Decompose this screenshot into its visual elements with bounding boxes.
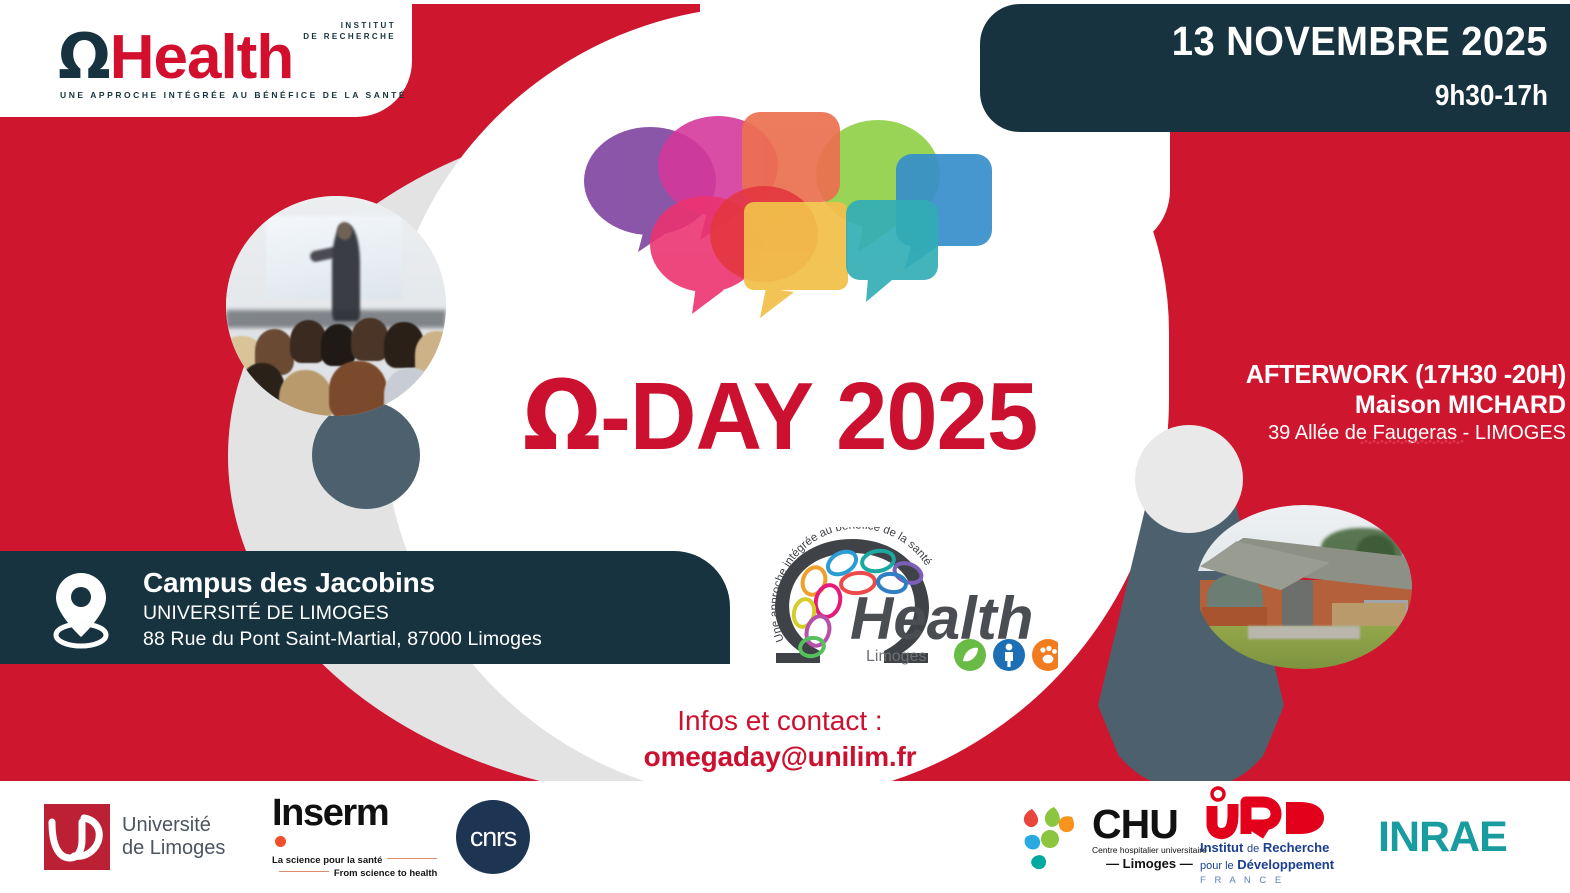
chu-city: — Limoges — xyxy=(1092,856,1207,871)
partner-logo-ird: Institut de Recherche pour le Développem… xyxy=(1200,781,1340,893)
partner-logo-chu-limoges: CHU Centre hospitalier universitaire — L… xyxy=(1012,781,1207,893)
chu-subtitle: Centre hospitalier universitaire xyxy=(1092,845,1207,856)
omega-health-wordmark: ΩHealth xyxy=(58,26,293,89)
chu-droplets-icon xyxy=(1012,799,1088,875)
title-text: -DAY 2025 xyxy=(600,363,1037,470)
contact-label: Infos et contact : xyxy=(560,703,1000,739)
afterwork-address: 39 Allée de Faugeras - LIMOGES xyxy=(1268,420,1566,446)
chu-wordmark: CHU xyxy=(1092,804,1207,845)
date-banner: 13 NOVEMBRE 2025 9h30-17h xyxy=(980,4,1570,132)
partner-logo-inserm: Inserm La science pour la santé From sci… xyxy=(272,781,437,893)
event-time: 9h30-17h xyxy=(1037,80,1548,113)
title-omega-glyph: Ω xyxy=(523,360,600,472)
health-logo-city: Limoges xyxy=(866,648,926,665)
omega-glyph: Ω xyxy=(58,20,110,93)
inserm-wordmark: Inserm xyxy=(272,794,388,832)
location-institution: UNIVERSITÉ DE LIMOGES xyxy=(143,601,542,626)
partner-logos-footer: Université de Limoges Inserm La science … xyxy=(0,781,1570,893)
partner-logo-cnrs: cnrs xyxy=(456,781,530,893)
partner-logo-inrae: INRAE xyxy=(1378,781,1507,893)
health-wordmark-text: Health xyxy=(110,23,293,92)
afterwork-venue: Maison MICHARD xyxy=(1150,390,1566,420)
contact-block: Infos et contact : omegaday@unilim.fr xyxy=(560,703,1000,775)
logo-institut-label: INSTITUT DE RECHERCHE xyxy=(303,20,396,42)
unilim-mark-icon xyxy=(44,804,110,870)
location-banner: Campus des Jacobins UNIVERSITÉ DE LIMOGE… xyxy=(0,551,730,664)
leaf-icon xyxy=(954,639,986,671)
person-icon xyxy=(993,639,1025,671)
map-pin-icon xyxy=(48,571,114,649)
spellcheck-underline xyxy=(1360,440,1464,444)
partner-logo-universite-de-limoges: Université de Limoges xyxy=(44,781,225,893)
paw-icon xyxy=(1032,639,1058,671)
conference-audience-photo xyxy=(226,196,446,416)
ird-line2: pour le Développement xyxy=(1200,857,1334,874)
inserm-tagline: La science pour la santé From science to… xyxy=(272,854,437,880)
page-title: Ω-DAY 2025 xyxy=(482,368,1077,465)
speech-bubbles-graphic xyxy=(578,104,998,329)
location-address: 88 Rue du Pont Saint-Martial, 87000 Limo… xyxy=(143,626,542,652)
inserm-dot-icon xyxy=(275,836,286,847)
afterwork-info-block: AFTERWORK (17H30 -20H) Maison MICHARD 39… xyxy=(1150,360,1570,446)
omega-health-logo-plate: INSTITUT DE RECHERCHE ΩHealth UNE APPROC… xyxy=(0,4,412,117)
cnrs-wordmark: cnrs xyxy=(470,822,516,853)
afterwork-heading: AFTERWORK (17H30 -20H) xyxy=(1150,360,1566,390)
slate-decor-circle-left xyxy=(312,401,420,509)
health-limoges-logo: Une approche intégrée au bénéfice de la … xyxy=(762,527,1058,679)
inrae-wordmark: INRAE xyxy=(1378,813,1507,862)
event-poster: INSTITUT DE RECHERCHE ΩHealth UNE APPROC… xyxy=(0,0,1570,893)
contact-email[interactable]: omegaday@unilim.fr xyxy=(560,739,1000,775)
event-date: 13 NOVEMBRE 2025 xyxy=(1020,18,1548,65)
ird-country: F R A N C E xyxy=(1200,874,1284,888)
maison-michard-building-photo xyxy=(1196,505,1412,669)
ird-mark-icon xyxy=(1200,786,1340,840)
logo-tagline: UNE APPROCHE INTÉGRÉE AU BÉNÉFICE DE LA … xyxy=(60,90,407,100)
ird-line1: Institut de Recherche xyxy=(1200,840,1329,857)
location-name: Campus des Jacobins xyxy=(143,565,542,601)
unilim-label: Université de Limoges xyxy=(122,814,225,860)
